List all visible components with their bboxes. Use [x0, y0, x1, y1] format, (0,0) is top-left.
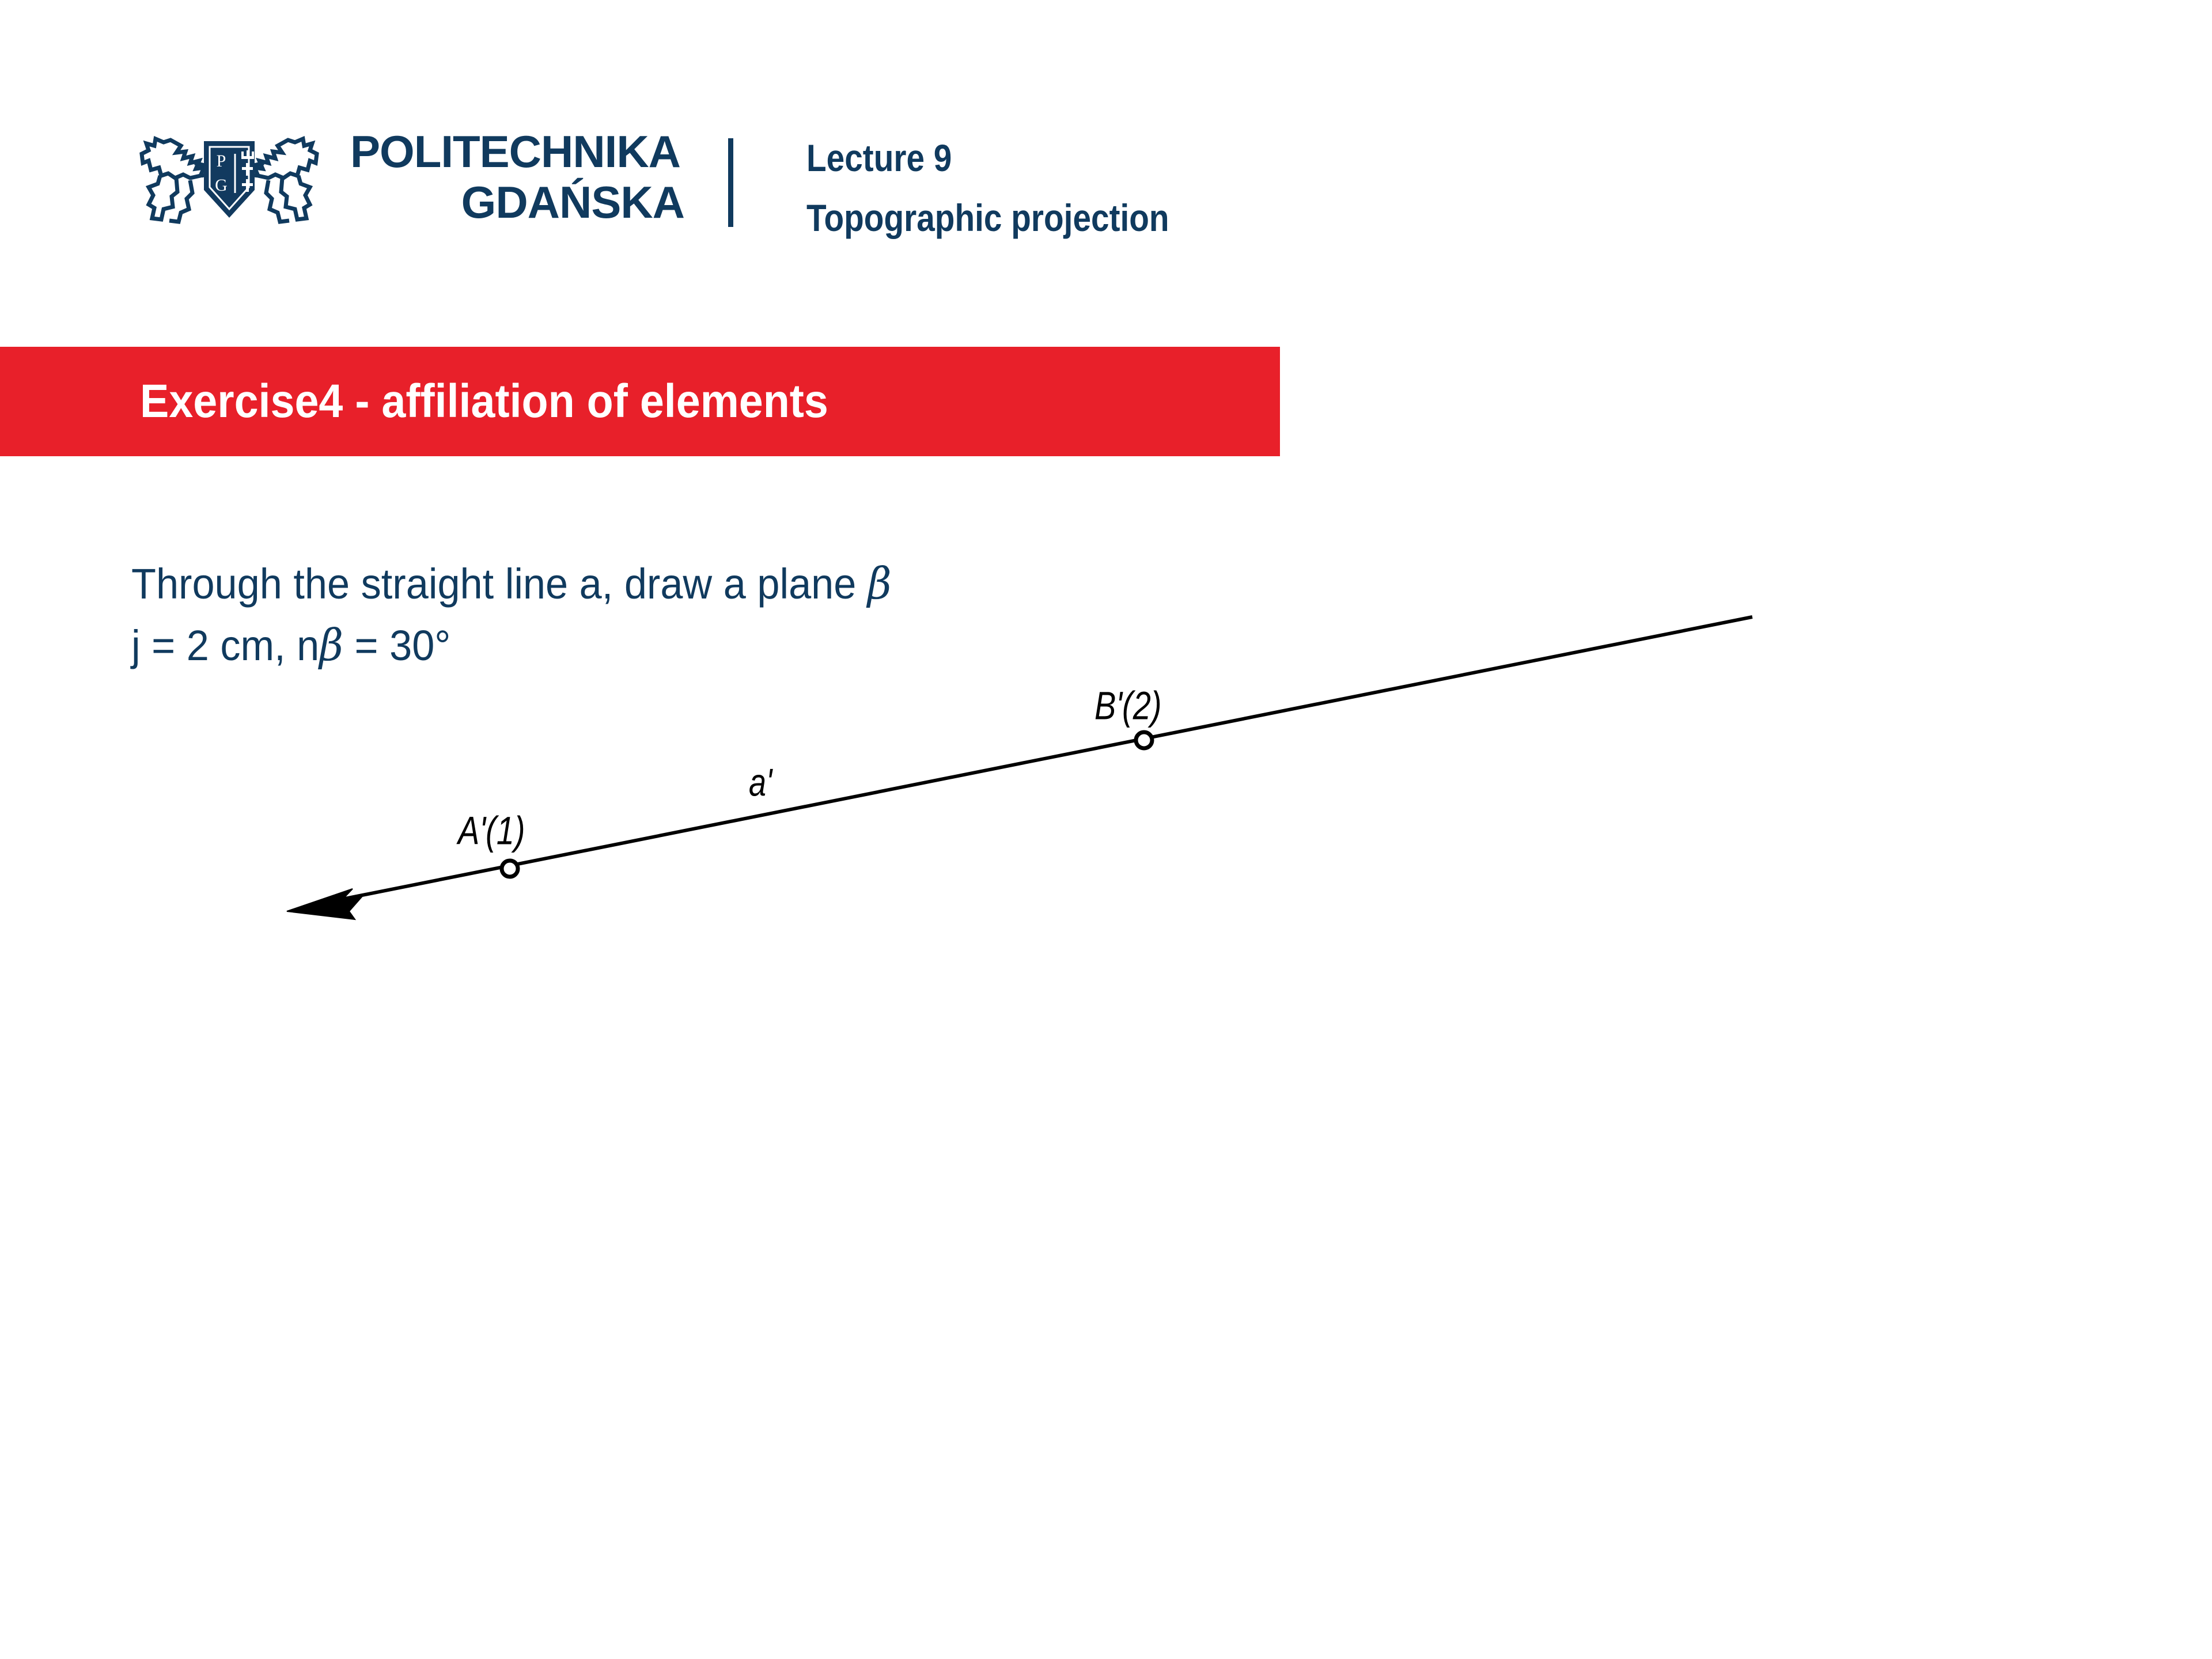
header-divider-icon — [728, 138, 733, 227]
lecture-subject: Topographic projection — [806, 188, 1550, 248]
slide-header: P G POLIT — [0, 0, 2212, 271]
point-marker-B — [1136, 732, 1152, 748]
instruction-line-2-suffix: = 30° — [343, 622, 450, 669]
instruction-line-1: Through the straight line a, draw a plan… — [131, 553, 1335, 615]
arrowhead-icon — [287, 889, 362, 919]
point-label-a: A'(1) — [458, 808, 525, 853]
instruction-line-2-prefix: j = 2 cm, n — [131, 622, 319, 669]
beta-symbol-2: β — [319, 619, 343, 671]
instruction-line-1-text: Through the straight line a, draw a plan… — [131, 560, 868, 608]
exercise-title-banner: Exercise4 - affiliation of elements — [0, 347, 1280, 456]
wordmark-line-politechnika: POLITECHNIKA — [350, 126, 684, 177]
exercise-instructions: Through the straight line a, draw a plan… — [131, 553, 1399, 676]
university-wordmark: POLITECHNIKA GDAŃSKA — [350, 126, 684, 230]
point-marker-A — [502, 861, 518, 877]
point-label-b: B'(2) — [1094, 683, 1161, 728]
instruction-line-2: j = 2 cm, nβ = 30° — [131, 615, 1335, 676]
slide-canvas: P G POLIT — [0, 0, 2212, 1659]
header-title-block: Lecture 9 Topographic projection — [806, 128, 1671, 243]
svg-text:P: P — [217, 151, 226, 171]
university-logo-lockup: P G POLIT — [126, 118, 690, 239]
pg-crest-icon: P G — [126, 123, 333, 232]
page-title: Exercise4 - affiliation of elements — [140, 373, 828, 430]
beta-symbol-1: β — [868, 558, 892, 609]
line-label-a-prime: a' — [749, 760, 772, 805]
svg-text:G: G — [215, 176, 228, 195]
wordmark-line-gdanska: GDAŃSKA — [350, 177, 684, 228]
lecture-number: Lecture 9 — [806, 128, 1550, 188]
